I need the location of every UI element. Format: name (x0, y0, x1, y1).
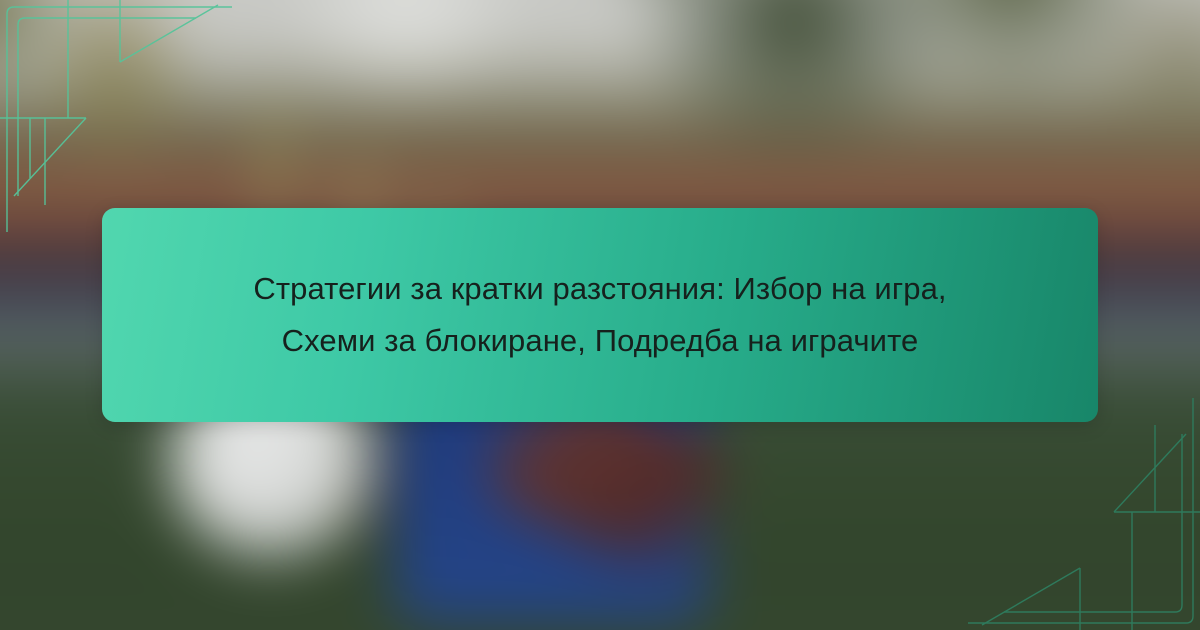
card-title: Стратегии за кратки разстояния: Избор на… (148, 263, 1052, 367)
title-card: Стратегии за кратки разстояния: Избор на… (102, 208, 1098, 422)
social-card-canvas: Стратегии за кратки разстояния: Избор на… (0, 0, 1200, 630)
